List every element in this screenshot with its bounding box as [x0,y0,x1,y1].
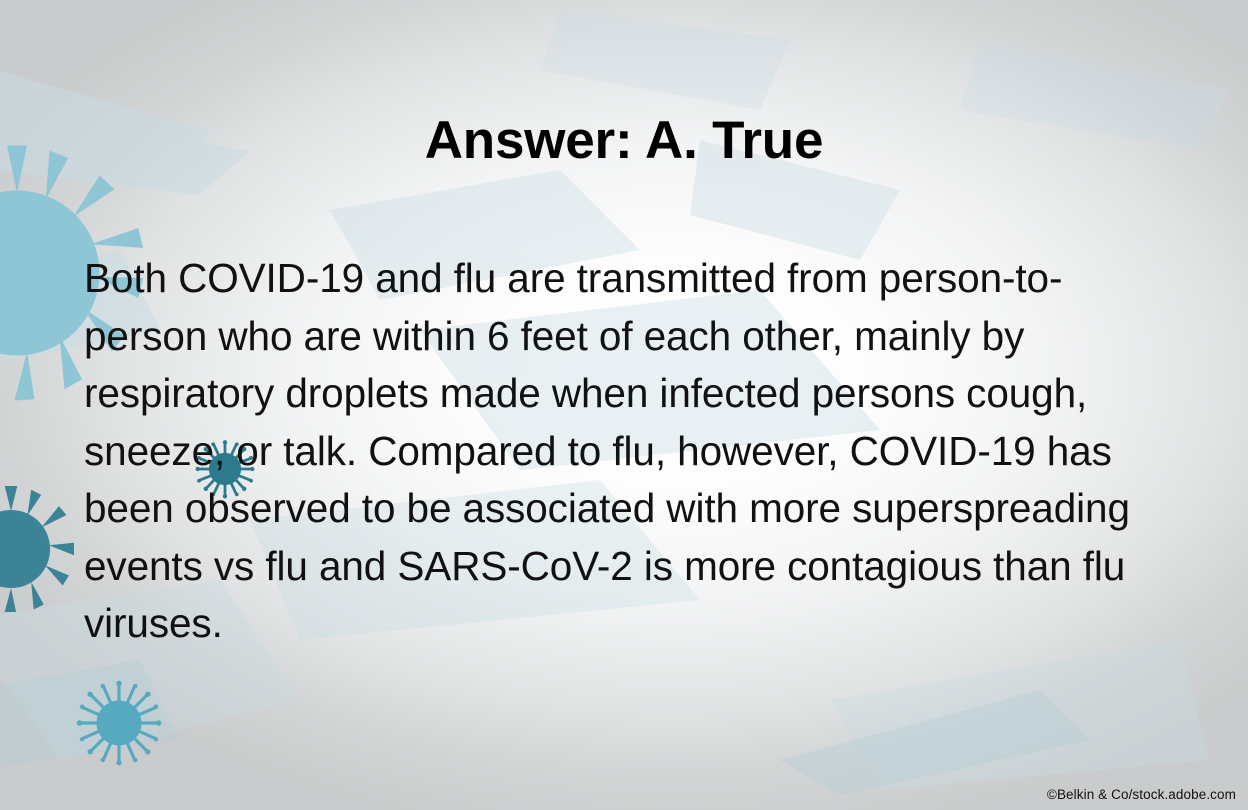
slide-body-text: Both COVID-19 and flu are transmitted fr… [84,250,1176,653]
slide-content: Answer: A. True Both COVID-19 and flu ar… [0,0,1248,810]
image-credit: ©Belkin & Co/stock.adobe.com [1047,787,1236,802]
page-title: Answer: A. True [0,112,1248,169]
slide-canvas: Answer: A. True Both COVID-19 and flu ar… [0,0,1248,810]
